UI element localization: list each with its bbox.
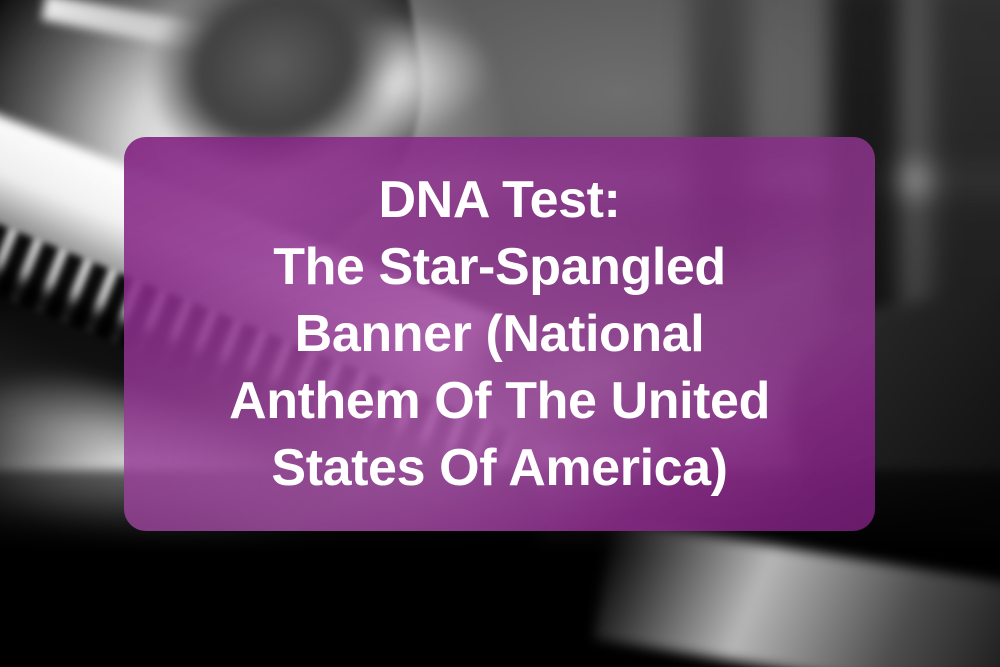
headline-line-4: Anthem Of The United [134,368,865,435]
title-panel: DNA Test: The Star-Spangled Banner (Nati… [124,137,875,531]
headline-line-2: The Star-Spangled [134,234,865,301]
headline-line-1: DNA Test: [134,167,865,234]
hero-banner: DNA Test: The Star-Spangled Banner (Nati… [0,0,1000,667]
headline-line-5: States Of America) [134,435,865,502]
page-title: DNA Test: The Star-Spangled Banner (Nati… [124,167,875,502]
headline-line-3: Banner (National [134,301,865,368]
